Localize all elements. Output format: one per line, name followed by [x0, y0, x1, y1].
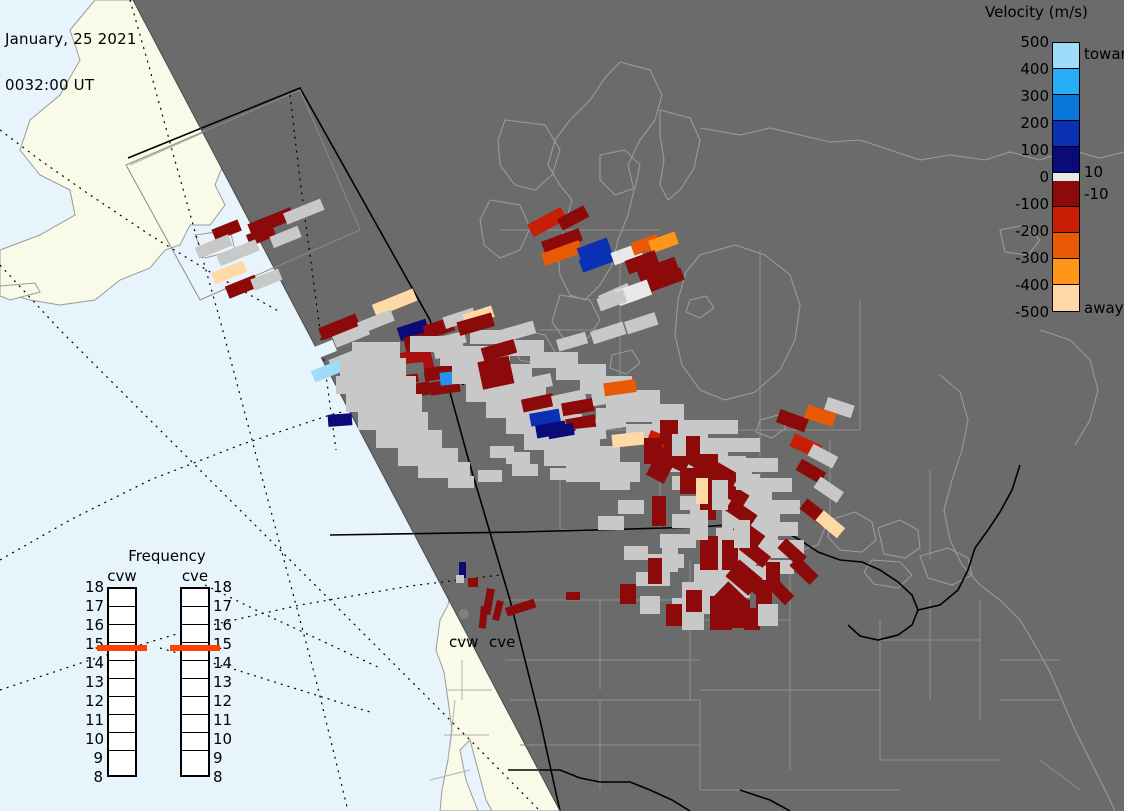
- frequency-cell: [182, 625, 208, 643]
- frequency-tick-16: 16: [213, 616, 233, 634]
- frequency-tick-12: 12: [213, 692, 233, 710]
- frequency-tick-16: 16: [85, 616, 103, 634]
- superdarn-map-view: January, 25 2021 0032:00 UT Velocity (m/…: [0, 0, 1124, 811]
- frequency-tick-8: 8: [213, 768, 233, 786]
- radar-site-label-cve: cve: [489, 633, 515, 651]
- timestamp-overlay: January, 25 2021 0032:00 UT: [5, 2, 137, 124]
- velocity-band-100..200: [1053, 121, 1079, 147]
- velocity-tick-100: 100: [1020, 141, 1049, 159]
- frequency-tick-8: 8: [85, 768, 103, 786]
- velocity-band--400..-300: [1053, 259, 1079, 285]
- velocity-colorbar-bar: [1052, 42, 1080, 312]
- frequency-gauge-label-cvw: cvw: [97, 567, 147, 585]
- frequency-cell: [109, 589, 135, 607]
- velocity-tick-0: 0: [1039, 168, 1049, 186]
- frequency-tick-10: 10: [213, 730, 233, 748]
- frequency-cell: [182, 715, 208, 733]
- frequency-cell: [182, 733, 208, 751]
- velocity-tick-500: 500: [1020, 33, 1049, 51]
- timestamp-time: 0032:00 UT: [5, 78, 137, 94]
- velocity-colorbar: Velocity (m/s) 5004003002001000-100-200-…: [985, 0, 1124, 340]
- velocity-band-200..300: [1053, 95, 1079, 121]
- frequency-tick-11: 11: [213, 711, 233, 729]
- frequency-tick-10: 10: [85, 730, 103, 748]
- velocity-lower-threshold-label: -10: [1084, 185, 1109, 203]
- velocity-upper-threshold-label: 10: [1084, 163, 1103, 181]
- radar-site-label-cvw: cvw: [449, 633, 478, 651]
- frequency-cell: [109, 607, 135, 625]
- frequency-gauge-cvw: [107, 587, 137, 777]
- frequency-cell: [109, 733, 135, 751]
- frequency-tick-14: 14: [85, 654, 103, 672]
- frequency-tick-18: 18: [213, 578, 233, 596]
- frequency-legend: Frequency cvw cve 1818171716161515141413…: [85, 545, 255, 780]
- velocity-band--300..-200: [1053, 233, 1079, 259]
- frequency-cell: [109, 751, 135, 770]
- frequency-cell: [109, 679, 135, 697]
- velocity-band-400..500: [1053, 43, 1079, 69]
- timestamp-date: January, 25 2021: [5, 32, 137, 48]
- velocity-tick--300: -300: [1015, 249, 1049, 267]
- frequency-tick-12: 12: [85, 692, 103, 710]
- velocity-band--100..-10: [1053, 181, 1079, 207]
- frequency-tick-17: 17: [213, 597, 233, 615]
- frequency-marker-cvw: [97, 645, 147, 651]
- frequency-cell: [182, 661, 208, 679]
- frequency-tick-9: 9: [85, 749, 103, 767]
- frequency-tick-18: 18: [85, 578, 103, 596]
- frequency-marker-cve: [170, 645, 220, 651]
- velocity-away-label: away: [1084, 299, 1124, 317]
- velocity-tick--500: -500: [1015, 303, 1049, 321]
- frequency-tick-11: 11: [85, 711, 103, 729]
- frequency-tick-9: 9: [213, 749, 233, 767]
- velocity-tick--400: -400: [1015, 276, 1049, 294]
- velocity-band--200..-100: [1053, 207, 1079, 233]
- velocity-band-300..400: [1053, 69, 1079, 95]
- velocity-tick-200: 200: [1020, 114, 1049, 132]
- frequency-tick-17: 17: [85, 597, 103, 615]
- velocity-tick-400: 400: [1020, 60, 1049, 78]
- frequency-cell: [182, 679, 208, 697]
- velocity-tick--100: -100: [1015, 195, 1049, 213]
- frequency-gauge-cve: [180, 587, 210, 777]
- frequency-tick-13: 13: [85, 673, 103, 691]
- velocity-tick-300: 300: [1020, 87, 1049, 105]
- velocity-band--10..10: [1053, 173, 1079, 181]
- velocity-colorbar-title: Velocity (m/s): [985, 3, 1124, 21]
- radar-site-marker: [459, 609, 469, 619]
- velocity-toward-label: toward: [1084, 45, 1124, 63]
- frequency-cell: [182, 697, 208, 715]
- frequency-tick-13: 13: [213, 673, 233, 691]
- frequency-cell: [182, 751, 208, 770]
- frequency-cell: [182, 607, 208, 625]
- frequency-cell: [109, 625, 135, 643]
- frequency-cell: [182, 589, 208, 607]
- frequency-tick-14: 14: [213, 654, 233, 672]
- velocity-band--500..-400: [1053, 285, 1079, 311]
- frequency-cell: [109, 715, 135, 733]
- frequency-cell: [109, 661, 135, 679]
- velocity-tick--200: -200: [1015, 222, 1049, 240]
- frequency-legend-title: Frequency: [107, 547, 227, 565]
- velocity-band-10..100: [1053, 147, 1079, 173]
- frequency-cell: [109, 697, 135, 715]
